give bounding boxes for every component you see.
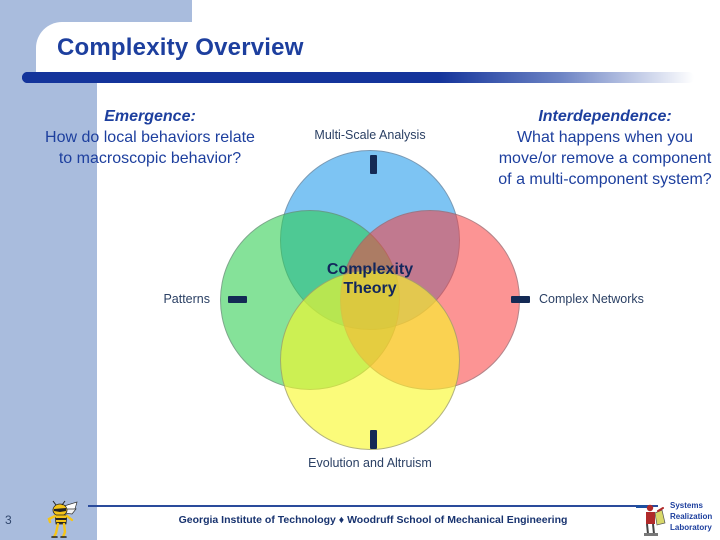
tick-mark-bottom xyxy=(370,430,377,449)
tick-mark-left xyxy=(228,296,247,303)
top-accent-band xyxy=(0,0,192,22)
venn-center-label: Complexity Theory xyxy=(280,260,460,298)
interdependence-heading: Interdependence: xyxy=(494,106,716,127)
venn-center-line-1: Complexity xyxy=(280,260,460,279)
srl-figure-icon xyxy=(636,501,670,537)
srl-logo-line-2: Realization xyxy=(670,511,720,522)
page-number: 3 xyxy=(5,513,25,527)
slide-canvas: Complexity Overview Emergence: How do lo… xyxy=(0,0,720,540)
venn-label-top: Multi-Scale Analysis xyxy=(275,128,465,142)
tick-mark-right xyxy=(511,296,530,303)
venn-label-right: Complex Networks xyxy=(539,292,699,306)
interdependence-text-block: Interdependence: What happens when you m… xyxy=(494,106,716,190)
venn-center-line-2: Theory xyxy=(280,279,460,298)
venn-label-left: Patterns xyxy=(100,292,210,306)
interdependence-body: What happens when you move/or remove a c… xyxy=(494,127,716,190)
footer-text: Georgia Institute of Technology ♦ Woodru… xyxy=(88,514,658,526)
yellowjacket-mascot-icon xyxy=(44,500,80,538)
emergence-heading: Emergence: xyxy=(44,106,256,127)
srl-logo-line-3: Laboratory xyxy=(670,522,720,533)
title-divider-bar xyxy=(22,72,694,83)
venn-diagram: Complexity Theory xyxy=(220,150,520,450)
tick-mark-top xyxy=(370,155,377,174)
venn-label-bottom: Evolution and Altruism xyxy=(275,456,465,470)
footer-divider xyxy=(88,505,658,507)
srl-logo-text: Systems Realization Laboratory xyxy=(670,500,720,533)
title-divider-cap xyxy=(22,72,82,83)
srl-logo-line-1: Systems xyxy=(670,500,720,511)
srl-logo: Systems Realization Laboratory xyxy=(636,499,720,539)
page-title: Complexity Overview xyxy=(57,30,617,66)
